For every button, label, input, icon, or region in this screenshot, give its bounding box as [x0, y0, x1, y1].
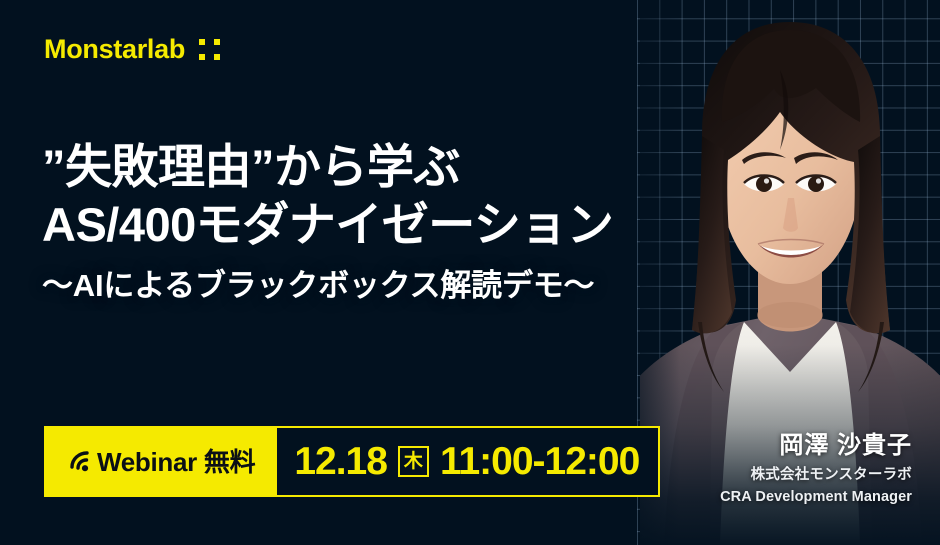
- day-of-week-badge: 木: [398, 446, 429, 477]
- webinar-banner: Monstarlab ”失敗理由”から学ぶ AS/400モダナイゼーション 〜A…: [0, 0, 940, 545]
- event-date-time: 12.18 木 11:00-12:00: [277, 428, 658, 495]
- speaker-company: 株式会社モンスターラボ: [720, 466, 912, 485]
- logo-wordmark: Monstarlab: [44, 36, 185, 63]
- headline-line-2: AS/400モダナイゼーション: [42, 196, 702, 254]
- webinar-label: Webinar 無料: [97, 449, 255, 475]
- four-square-dots-icon: [199, 39, 220, 60]
- headline-block: ”失敗理由”から学ぶ AS/400モダナイゼーション 〜AIによるブラックボック…: [42, 138, 702, 304]
- event-date: 12.18: [294, 442, 387, 481]
- monstarlab-logo[interactable]: Monstarlab: [44, 36, 220, 63]
- speaker-role: CRA Development Manager: [720, 488, 912, 507]
- event-time-range: 11:00-12:00: [440, 442, 639, 481]
- speaker-name: 岡澤 沙貴子: [720, 431, 912, 461]
- speaker-caption: 岡澤 沙貴子 株式会社モンスターラボ CRA Development Manag…: [720, 431, 912, 507]
- event-info-bar: Webinar 無料 12.18 木 11:00-12:00: [44, 426, 660, 497]
- webinar-free-badge: Webinar 無料: [46, 428, 277, 495]
- broadcast-signal-icon: [64, 450, 90, 474]
- headline-line-1: ”失敗理由”から学ぶ: [42, 138, 702, 196]
- headline-subline: 〜AIによるブラックボックス解読デモ〜: [42, 267, 702, 304]
